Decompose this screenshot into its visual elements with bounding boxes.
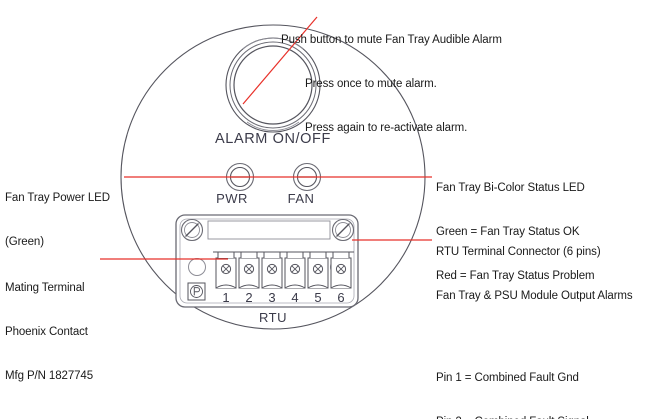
rtu-standoff-left — [189, 259, 206, 276]
rtu-panel-screw-left — [182, 220, 203, 241]
callout-mating-terminal-line1: Mating Terminal — [5, 281, 93, 296]
callout-rtu-pin-2: Pin 2 = Combined Fault Signal — [436, 415, 633, 419]
callout-mating-terminal-line2: Phoenix Contact — [5, 325, 93, 340]
callout-power-led-line2: (Green) — [5, 235, 110, 250]
phoenix-contact-logo-icon — [188, 283, 205, 300]
callout-alarm-button-line1: Push button to mute Fan Tray Audible Ala… — [281, 33, 502, 48]
rtu-panel-label-window — [208, 221, 330, 239]
pin-number-3: 3 — [265, 290, 279, 305]
callout-alarm-button-line3: Press again to re-activate alarm. — [281, 121, 502, 136]
pin-number-4: 4 — [288, 290, 302, 305]
callout-alarm-button: Push button to mute Fan Tray Audible Ala… — [281, 4, 502, 165]
fan-tray-diagram-page: ALARM ON/OFF PWR FAN RTU 1 2 3 4 5 6 Pus… — [0, 0, 652, 419]
callout-power-led-line1: Fan Tray Power LED — [5, 191, 110, 206]
pin-number-1: 1 — [219, 290, 233, 305]
callout-rtu-spacer — [436, 333, 633, 342]
callout-alarm-button-line2: Press once to mute alarm. — [281, 77, 502, 92]
pin-number-2: 2 — [242, 290, 256, 305]
callout-rtu-connector: RTU Terminal Connector (6 pins) Fan Tray… — [436, 216, 633, 419]
pin-number-5: 5 — [311, 290, 325, 305]
callout-rtu-pin-1: Pin 1 = Combined Fault Gnd — [436, 371, 633, 386]
callout-status-led-line1: Fan Tray Bi-Color Status LED — [436, 181, 595, 196]
callout-rtu-line2: Fan Tray & PSU Module Output Alarms — [436, 289, 633, 304]
rtu-connector-label: RTU — [246, 310, 300, 325]
pwr-led-label: PWR — [205, 191, 259, 206]
pin-number-6: 6 — [334, 290, 348, 305]
fan-led-label: FAN — [274, 191, 328, 206]
callout-mating-terminal-line3: Mfg P/N 1827745 — [5, 369, 93, 384]
callout-rtu-line1: RTU Terminal Connector (6 pins) — [436, 245, 633, 260]
rtu-panel-screw-right — [333, 220, 354, 241]
callout-mating-terminal: Mating Terminal Phoenix Contact Mfg P/N … — [5, 252, 93, 413]
